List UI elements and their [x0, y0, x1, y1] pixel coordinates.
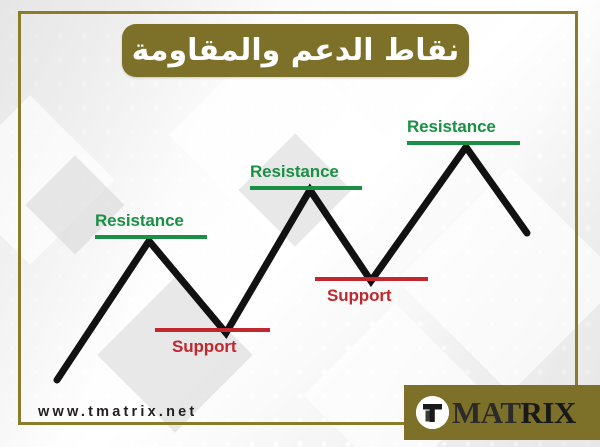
- logo-word-mat: MAT: [452, 395, 521, 430]
- resistance-label: Resistance: [407, 117, 496, 137]
- logo-wordmark: MATRIX: [452, 397, 576, 428]
- resistance-label: Resistance: [95, 211, 184, 231]
- tmatrix-t-icon: [416, 396, 449, 429]
- price-chart: [0, 0, 600, 447]
- website-url[interactable]: www.tmatrix.net: [38, 404, 197, 420]
- support-label: Support: [327, 286, 391, 306]
- support-label: Support: [172, 337, 236, 357]
- infographic-canvas: نقاط الدعم والمقاومة ResistanceSupportRe…: [0, 0, 600, 447]
- logo-word-rix: RIX: [521, 395, 576, 430]
- resistance-label: Resistance: [250, 162, 339, 182]
- brand-logo[interactable]: MATRIX: [404, 385, 600, 440]
